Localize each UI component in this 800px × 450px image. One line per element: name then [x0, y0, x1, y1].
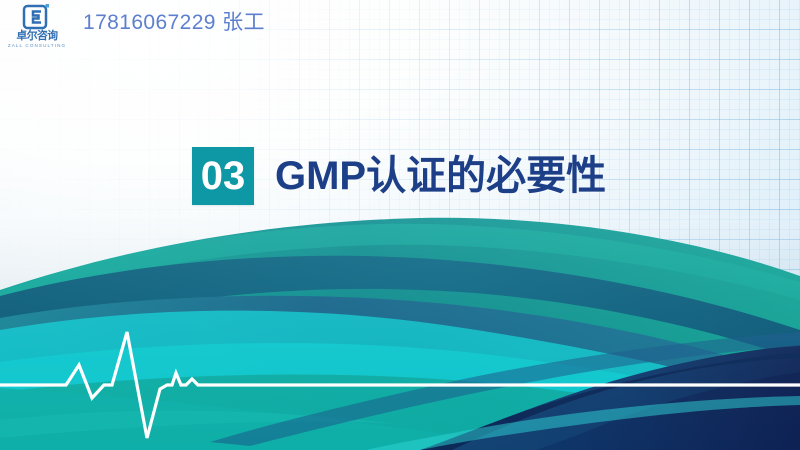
decorative-waves [0, 0, 800, 450]
logo-chinese-name: 卓尔咨询 [16, 31, 57, 42]
header: 卓尔咨询 ZALL CONSULTING 17816067229 张工 [0, 0, 265, 56]
section-number-badge: 03 [192, 147, 254, 205]
company-logo[interactable]: 卓尔咨询 ZALL CONSULTING [4, 2, 70, 54]
contact-phone-text: 17816067229 张工 [83, 11, 265, 45]
logo-english-name: ZALL CONSULTING [8, 43, 66, 49]
section-title-block: 03 GMP认证的必要性 [192, 147, 606, 205]
zall-consulting-logo-icon [22, 3, 52, 30]
slide-canvas: 卓尔咨询 ZALL CONSULTING 17816067229 张工 03 G… [0, 0, 800, 450]
page-title: GMP认证的必要性 [275, 154, 606, 198]
